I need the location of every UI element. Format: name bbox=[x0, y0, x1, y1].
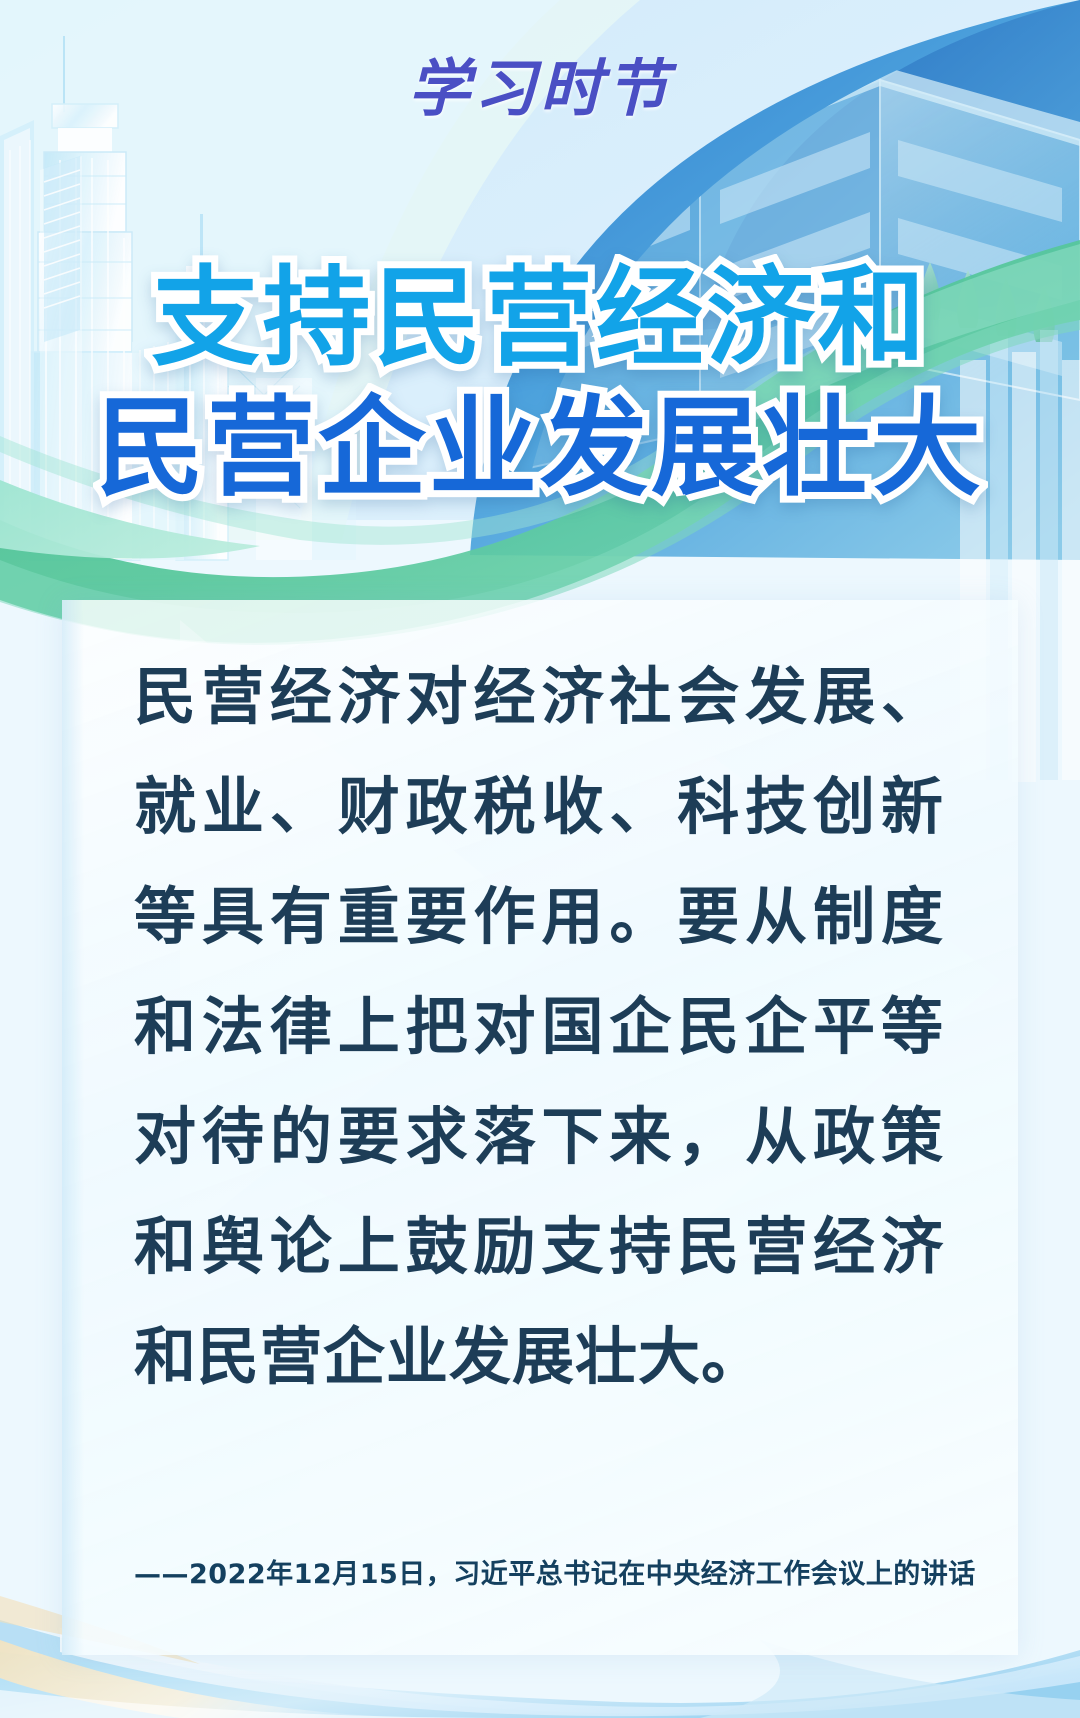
brand-logo: 学习时节 bbox=[0, 58, 1080, 120]
page-title-line-1: 支持民营经济和 bbox=[0, 262, 1080, 376]
page-title-line-2: 民营企业发展壮大 bbox=[0, 392, 1080, 506]
quote-body-text: 民营经济对经济社会发展、就业、财政税收、科技创新等具有重要作用。要从制度和法律上… bbox=[134, 642, 944, 1412]
page-title: 支持民营经济和 民营企业发展壮大 bbox=[0, 262, 1080, 507]
quote-attribution: ——2022年12月15日，习近平总书记在中央经济工作会议上的讲话 bbox=[134, 1552, 954, 1591]
quote-card: 民营经济对经济社会发展、就业、财政税收、科技创新等具有重要作用。要从制度和法律上… bbox=[62, 600, 1018, 1655]
poster-root: 学习时节 支持民营经济和 民营企业发展壮大 民营经济对经济社会发展、就业、财政税… bbox=[0, 0, 1080, 1718]
brand-logo-text: 学习时节 bbox=[408, 58, 672, 120]
